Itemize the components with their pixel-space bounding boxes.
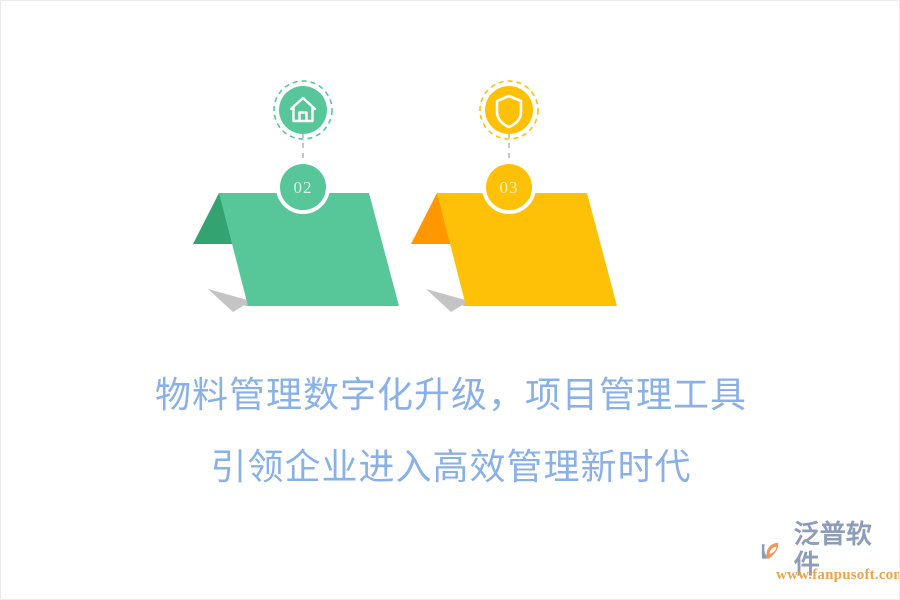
infographic-graphics: 02 03 bbox=[1, 1, 900, 600]
headline: 物料管理数字化升级，项目管理工具 引领企业进入高效管理新时代 bbox=[1, 359, 900, 503]
banner-03 bbox=[437, 193, 617, 306]
brand-logo: 泛普软件 www.fanpusoft.com bbox=[758, 532, 894, 590]
badge-number-03: 03 bbox=[500, 178, 519, 197]
headline-line-1: 物料管理数字化升级，项目管理工具 bbox=[1, 359, 900, 431]
step-group-03: 03 bbox=[411, 81, 617, 312]
fanpu-logo-mark-icon bbox=[758, 536, 791, 564]
step-group-02: 02 bbox=[193, 81, 399, 312]
icon-disc-02 bbox=[279, 86, 327, 134]
infographic-canvas: 02 03 bbox=[0, 0, 900, 600]
headline-line-2: 引领企业进入高效管理新时代 bbox=[1, 431, 900, 503]
brand-website: www.fanpusoft.com bbox=[776, 567, 900, 584]
logo-row: 泛普软件 bbox=[758, 532, 894, 568]
badge-number-02: 02 bbox=[294, 178, 313, 197]
